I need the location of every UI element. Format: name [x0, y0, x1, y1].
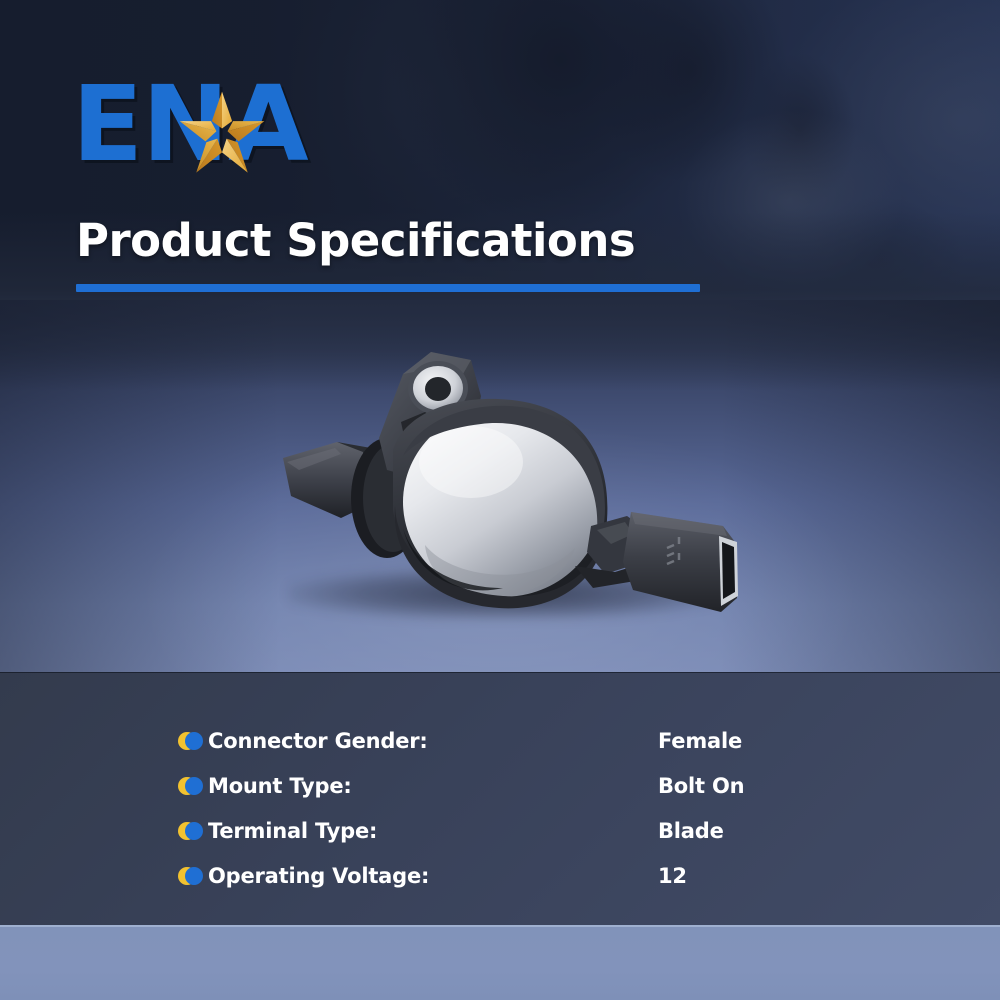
footer-band	[0, 925, 1000, 1000]
spec-value: 12	[658, 864, 687, 888]
spec-row: Terminal Type: Blade	[178, 808, 960, 853]
spec-row: Mount Type: Bolt On	[178, 763, 960, 808]
dual-circle-bullet-icon	[178, 731, 208, 751]
star-icon	[176, 88, 268, 180]
page-title: Product Specifications	[76, 214, 635, 267]
spec-label: Operating Voltage:	[208, 864, 658, 888]
spec-value: Bolt On	[658, 774, 744, 798]
title-underline-rule	[76, 284, 700, 292]
dual-circle-bullet-icon	[178, 866, 208, 886]
spec-value: Blade	[658, 819, 724, 843]
dual-circle-bullet-icon	[178, 821, 208, 841]
spec-label: Terminal Type:	[208, 819, 658, 843]
dual-circle-bullet-icon	[178, 776, 208, 796]
spec-row: Connector Gender: Female	[178, 718, 960, 763]
brand-logo: ENA	[72, 72, 282, 180]
spec-value: Female	[658, 729, 742, 753]
spec-row: Operating Voltage: 12	[178, 853, 960, 898]
spec-label: Connector Gender:	[208, 729, 658, 753]
product-image-ignition-coil	[275, 330, 755, 630]
spec-label: Mount Type:	[208, 774, 658, 798]
specifications-list: Connector Gender: Female Mount Type: Bol…	[178, 718, 960, 898]
product-stage	[0, 300, 1000, 672]
product-specifications-page: ENA	[0, 0, 1000, 1000]
specifications-panel: Connector Gender: Female Mount Type: Bol…	[0, 672, 1000, 925]
